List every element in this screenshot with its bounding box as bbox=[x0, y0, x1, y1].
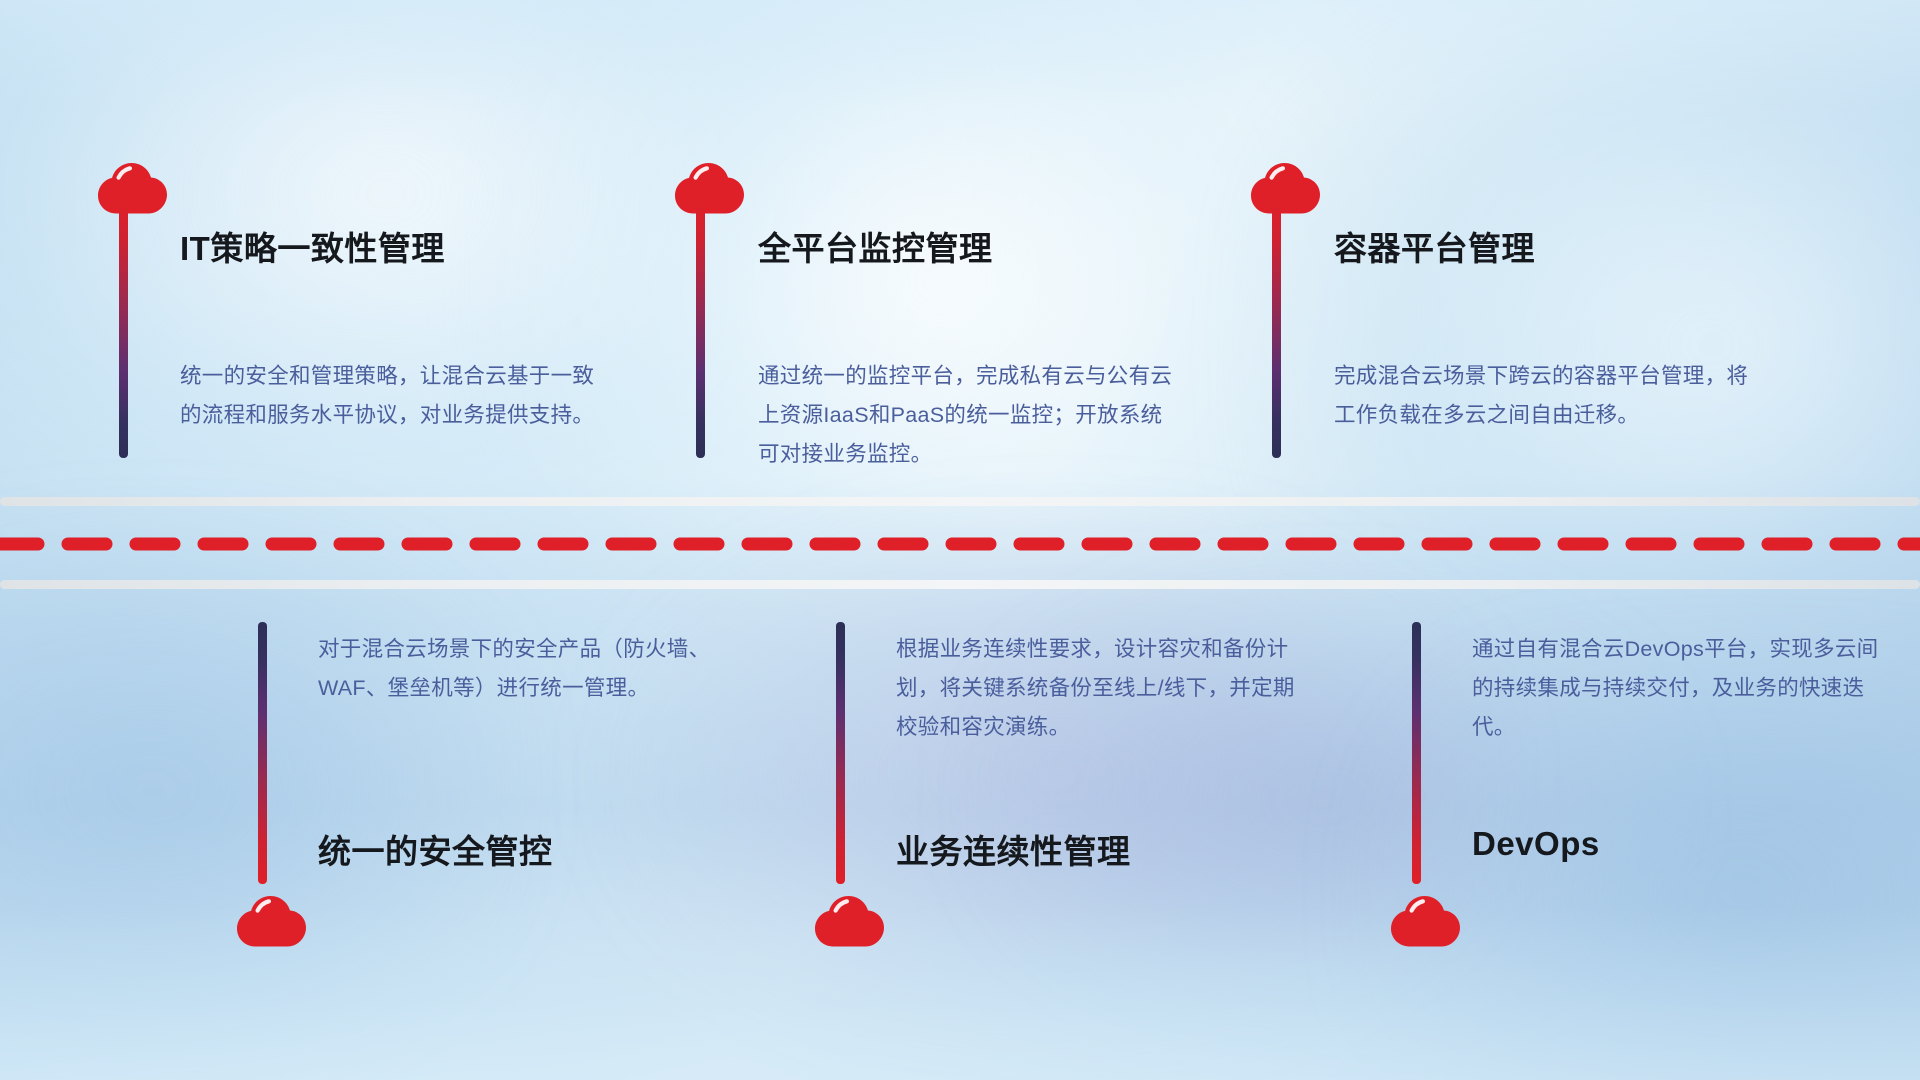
connector-stem bbox=[1412, 622, 1421, 884]
connector-stem bbox=[119, 200, 128, 458]
card-body: 通过统一的监控平台，完成私有云与公有云上资源IaaS和PaaS的统一监控；开放系… bbox=[758, 357, 1178, 474]
cloud-icon bbox=[234, 893, 310, 949]
cloud-icon bbox=[95, 160, 171, 216]
card-heading: 全平台监控管理 bbox=[758, 222, 993, 270]
connector-stem bbox=[836, 622, 845, 884]
card-heading: DevOps bbox=[1472, 825, 1600, 863]
card-body: 通过自有混合云DevOps平台，实现多云间的持续集成与持续交付，及业务的快速迭代… bbox=[1472, 630, 1892, 747]
divider-rule-bottom bbox=[0, 580, 1920, 589]
card-body: 统一的安全和管理策略，让混合云基于一致的流程和服务水平协议，对业务提供支持。 bbox=[180, 357, 600, 435]
card-body: 根据业务连续性要求，设计容灾和备份计划，将关键系统备份至线上/线下，并定期校验和… bbox=[896, 630, 1316, 747]
cloud-icon bbox=[1388, 893, 1464, 949]
card-heading: 业务连续性管理 bbox=[896, 825, 1131, 873]
cloud-icon bbox=[812, 893, 888, 949]
connector-stem bbox=[696, 200, 705, 458]
cloud-icon bbox=[672, 160, 748, 216]
card-heading: 统一的安全管控 bbox=[318, 825, 553, 873]
cloud-icon bbox=[1248, 160, 1324, 216]
connector-stem bbox=[258, 622, 267, 884]
divider-rule-top bbox=[0, 497, 1920, 506]
dashed-red-divider bbox=[0, 536, 1920, 552]
card-heading: IT策略一致性管理 bbox=[180, 222, 445, 270]
card-body: 完成混合云场景下跨云的容器平台管理，将工作负载在多云之间自由迁移。 bbox=[1334, 357, 1754, 435]
card-body: 对于混合云场景下的安全产品（防火墙、WAF、堡垒机等）进行统一管理。 bbox=[318, 630, 738, 708]
background-top-sheen bbox=[0, 0, 1920, 108]
section-divider bbox=[0, 497, 1920, 589]
connector-stem bbox=[1272, 200, 1281, 458]
card-heading: 容器平台管理 bbox=[1334, 222, 1535, 270]
